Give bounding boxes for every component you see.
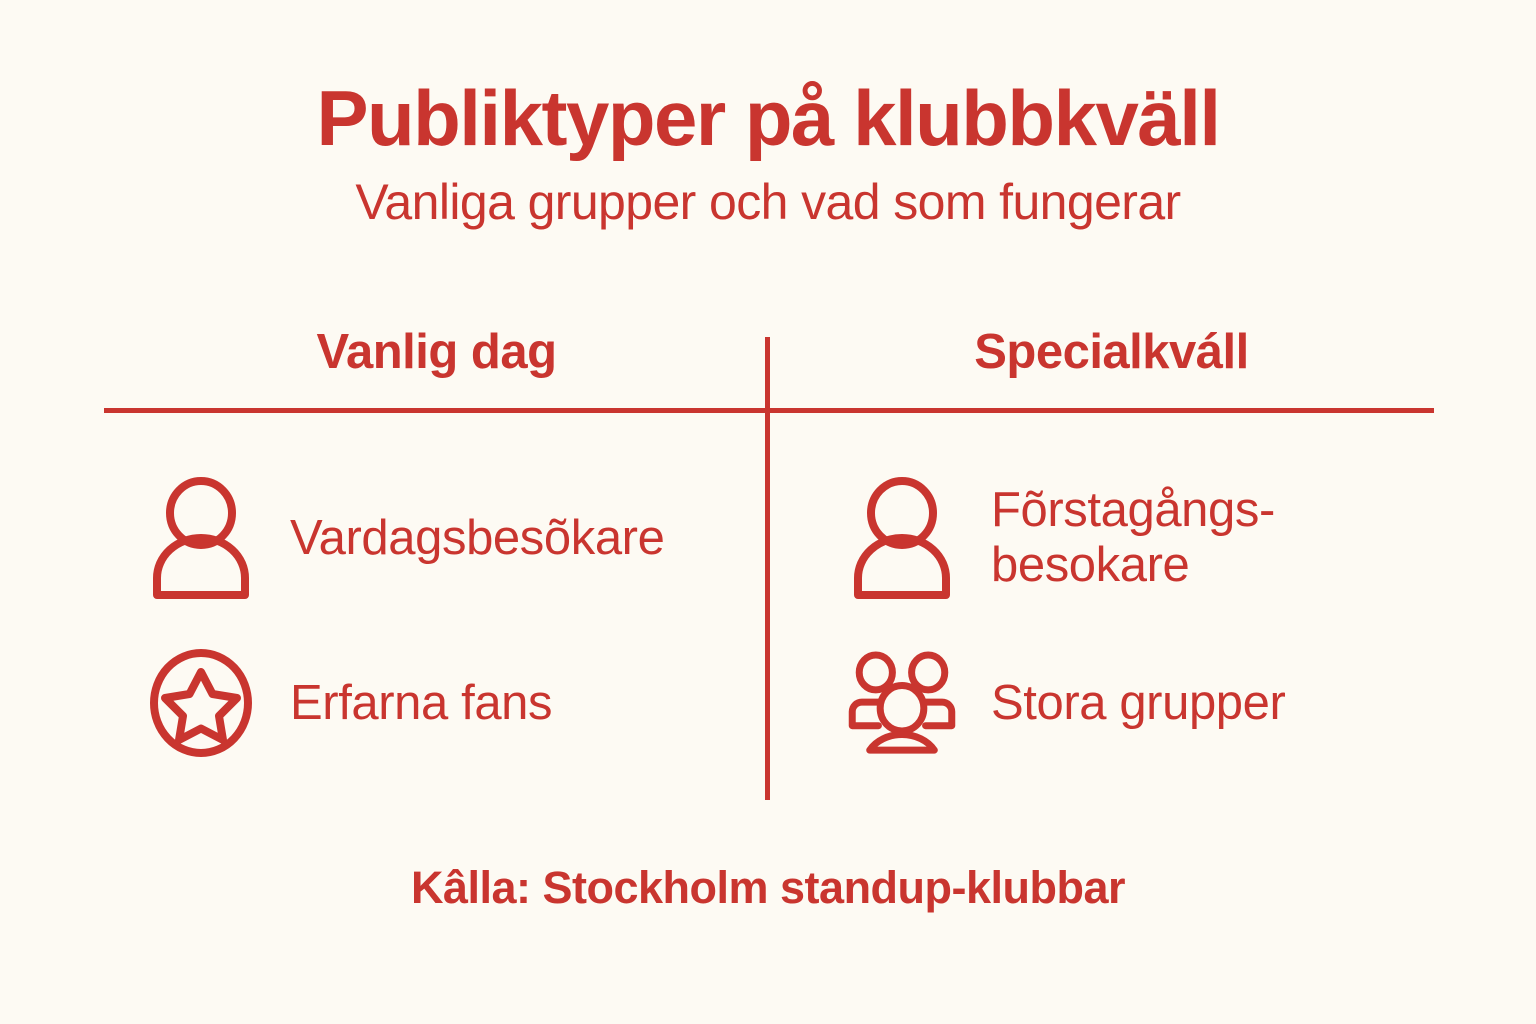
- page-subtitle: Vanliga grupper och vad som fungerar: [0, 175, 1536, 230]
- column-heading-vanlig-dag: Vanlig dag: [104, 326, 769, 380]
- list-item: Vardagsbesõkare: [146, 448, 769, 628]
- person-icon: [847, 477, 957, 599]
- column-vanlig-dag: Vardagsbesõkare Erfarna fans: [104, 448, 769, 798]
- column-specialkvall: Fõrstagångs- besokare Stora grupper: [769, 448, 1434, 798]
- column-heading-specialkvall: Specialkváll: [769, 326, 1444, 380]
- infographic-poster: Publiktyper på klubbkväll Vanliga gruppe…: [0, 0, 1536, 1024]
- list-item-label: Fõrstagångs- besokare: [991, 483, 1275, 593]
- group-icon: [847, 642, 957, 764]
- star-circle-icon: [146, 642, 256, 764]
- list-item-label: Vardagsbesõkare: [290, 511, 664, 566]
- header: Publiktyper på klubbkväll Vanliga gruppe…: [0, 78, 1536, 230]
- page-title: Publiktyper på klubbkväll: [0, 78, 1536, 159]
- list-item: Erfarna fans: [146, 628, 769, 778]
- columns-body: Vardagsbesõkare Erfarna fans: [104, 448, 1434, 798]
- list-item: Stora grupper: [847, 628, 1434, 778]
- source-note: Kâlla: Stockholm standup-klubbar: [0, 862, 1536, 914]
- list-item: Fõrstagångs- besokare: [847, 448, 1434, 628]
- list-item-label: Stora grupper: [991, 676, 1285, 731]
- person-icon: [146, 477, 256, 599]
- list-item-label: Erfarna fans: [290, 676, 552, 731]
